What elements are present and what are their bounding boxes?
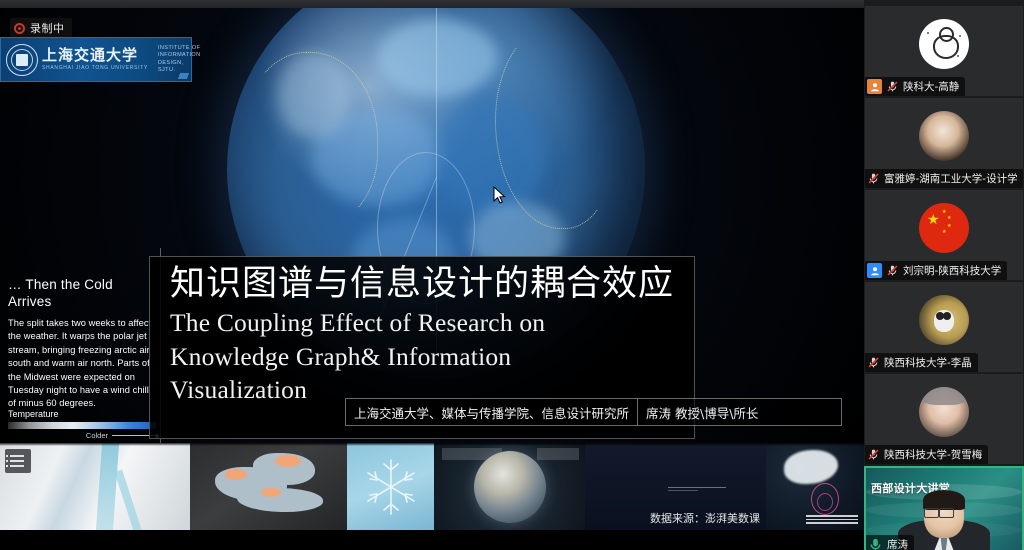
record-dot-icon xyxy=(14,23,25,34)
river-shape xyxy=(115,470,144,530)
legend-title: Temperature xyxy=(8,409,158,419)
participant-tile[interactable]: 陕科大-高静 xyxy=(865,6,1023,96)
mic-muted-icon xyxy=(867,448,880,461)
participant-name: 陕西科技大学-李晶 xyxy=(884,355,972,370)
sjtu-wordmark: 上海交通大学 SHANGHAI JIAO TONG UNIVERSITY xyxy=(42,47,148,72)
avatar: ★ ★ ★ ★ ★ xyxy=(919,203,969,253)
participant-label: 陕西科技大学-贺雪梅 xyxy=(865,445,988,464)
participant-tile-active-speaker[interactable]: 西部设计大讲堂 席涛 xyxy=(864,466,1024,550)
doodle-dot xyxy=(959,35,961,37)
university-name-en: SHANGHAI JIAO TONG UNIVERSITY xyxy=(42,64,148,72)
participant-video-rail[interactable]: 陕科大-高静 富雅婷-湖南工业大学-设计学 ★ ★ ★ ★ xyxy=(864,0,1024,550)
institute-line-2: INFORMATION xyxy=(158,52,201,60)
mic-muted-icon xyxy=(867,172,880,185)
mic-muted-icon xyxy=(886,264,899,277)
slide-subtitle-bar: 上海交通大学、媒体与传播学院、信息设计研究所 席涛 教授\博导\所长 xyxy=(345,398,842,426)
participant-label: 富雅婷-湖南工业大学-设计学 xyxy=(865,169,1023,188)
source-credit: 数据来源：澎湃美数课 xyxy=(650,510,760,526)
legend-direction-label: Colder xyxy=(86,431,108,440)
thumbnail-night-satellite-storm[interactable] xyxy=(766,443,864,530)
temperature-blob xyxy=(377,19,497,97)
snowflake-icon xyxy=(360,456,422,518)
participant-name: 富雅婷-湖南工业大学-设计学 xyxy=(884,171,1018,186)
avatar xyxy=(919,19,969,69)
legend-gradient-bar xyxy=(8,422,156,429)
list-menu-icon[interactable] xyxy=(5,449,31,473)
legend-ticks xyxy=(806,515,858,525)
participant-label: 席涛 xyxy=(866,535,914,550)
sjtu-logo-bar: 上海交通大学 SHANGHAI JIAO TONG UNIVERSITY INS… xyxy=(0,37,192,82)
mouse-cursor-icon xyxy=(493,186,506,205)
speaker-glasses xyxy=(924,508,939,518)
slide-title-en-line1: The Coupling Effect of Research on xyxy=(150,306,694,340)
host-badge-icon xyxy=(867,79,882,94)
thumbnail-dark-data-chart[interactable]: 数据来源：澎湃美数课 xyxy=(585,443,766,530)
map-label xyxy=(537,448,579,460)
slide-title-cn: 知识图谱与信息设计的耦合效应 xyxy=(150,257,694,306)
avatar xyxy=(919,295,969,345)
presenter-text: 席涛 教授\博导\所长 xyxy=(638,403,766,422)
river-shape xyxy=(95,443,119,530)
star-icon: ★ xyxy=(927,212,940,226)
university-name-cn: 上海交通大学 xyxy=(42,47,148,64)
shared-screen-stage[interactable]: 录制中 上海交通大学 SHANGHAI JIAO TONG UNIVERSITY… xyxy=(0,8,864,550)
participant-label: 刘宗明-陕西科技大学 xyxy=(865,261,1007,280)
mini-globe xyxy=(474,451,546,523)
participant-tile[interactable]: 陕西科技大学-贺雪梅 xyxy=(865,374,1023,464)
participant-tile[interactable]: ★ ★ ★ ★ ★ 刘宗明-陕西科技大学 xyxy=(865,190,1023,280)
participant-label: 陕西科技大学-李晶 xyxy=(865,353,978,372)
avatar-hair xyxy=(921,387,967,405)
article-heading: … Then the Cold Arrives xyxy=(8,276,156,310)
affiliation-text: 上海交通大学、媒体与传播学院、信息设计研究所 xyxy=(346,403,637,422)
terrain-highlight xyxy=(225,469,247,480)
participant-tile[interactable]: 富雅婷-湖南工业大学-设计学 xyxy=(865,98,1023,188)
star-icon: ★ xyxy=(942,210,946,215)
doodle-dot xyxy=(927,32,929,34)
coastline-outline xyxy=(244,52,378,226)
slide-thumbnail-strip[interactable]: 数据来源：澎湃美数课 xyxy=(0,443,864,530)
article-body: The split takes two weeks to affect the … xyxy=(8,317,156,411)
zoom-meeting-window: 录制中 上海交通大学 SHANGHAI JIAO TONG UNIVERSITY… xyxy=(0,0,1024,550)
recording-indicator: 录制中 xyxy=(10,18,72,38)
thumbnail-arctic-globe-map[interactable] xyxy=(434,443,585,530)
participant-name: 陕西科技大学-贺雪梅 xyxy=(884,447,982,462)
mic-muted-icon xyxy=(886,80,899,93)
avatar xyxy=(919,387,969,437)
temperature-legend: Temperature Colder xyxy=(8,409,158,440)
institute-line-1: INSTITUTE OF xyxy=(158,45,201,53)
cohost-badge-icon xyxy=(867,263,882,278)
participant-name: 刘宗明-陕西科技大学 xyxy=(903,263,1001,278)
mic-muted-icon xyxy=(867,356,880,369)
institute-name: INSTITUTE OF INFORMATION DESIGN, SJTU. xyxy=(158,45,205,75)
participant-name: 陕科大-高静 xyxy=(903,79,959,94)
article-snippet: … Then the Cold Arrives The split takes … xyxy=(8,276,156,411)
thumbnail-satellite-river-ice[interactable] xyxy=(0,443,190,530)
panda-eye xyxy=(943,312,951,320)
mic-on-icon xyxy=(868,537,883,550)
sjtu-seal-icon xyxy=(6,44,38,76)
star-icon: ★ xyxy=(947,224,951,229)
doodle-face xyxy=(933,35,959,59)
logo-flag-mark xyxy=(178,73,189,79)
speaker-glasses xyxy=(939,508,954,518)
star-icon: ★ xyxy=(942,230,946,235)
legend-direction-row: Colder xyxy=(8,431,158,440)
speaker-hair xyxy=(923,490,965,510)
storm-cloud xyxy=(784,450,838,484)
slide-title-en-line2: Knowledge Graph& Information xyxy=(150,340,694,374)
chart-line xyxy=(668,490,698,491)
stage-bottom-letterbox xyxy=(0,530,864,550)
star-icon: ★ xyxy=(947,216,951,221)
doodle-dot xyxy=(957,55,959,57)
participant-name: 席涛 xyxy=(887,537,908,550)
participant-label: 陕科大-高静 xyxy=(865,77,965,96)
avatar xyxy=(919,111,969,161)
recording-label: 录制中 xyxy=(30,20,65,36)
participant-tile[interactable]: 陕西科技大学-李晶 xyxy=(865,282,1023,372)
chart-line xyxy=(668,487,726,488)
filmstrip-shadow xyxy=(0,443,864,446)
thumbnail-snowflake-macro[interactable] xyxy=(347,443,434,530)
terrain-highlight xyxy=(275,455,301,467)
thumbnail-3d-terrain-extrusion[interactable] xyxy=(190,443,347,530)
